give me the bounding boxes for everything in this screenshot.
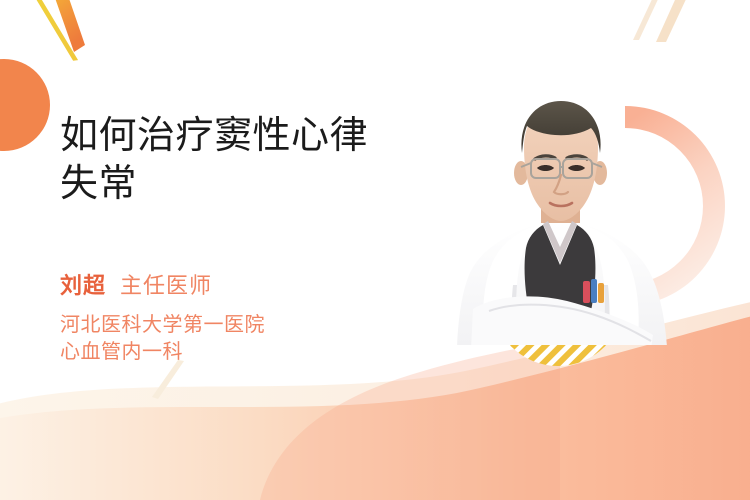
doctor-portrait: [455, 95, 670, 345]
affiliation: 河北医科大学第一医院 心血管内一科: [60, 312, 460, 366]
page-title: 如何治疗窦性心律 失常: [60, 112, 410, 208]
doctor-name: 刘超: [60, 273, 106, 298]
top-left-stripes: [26, 0, 85, 65]
orange-circle-decor: [0, 59, 50, 151]
top-right-stripes: [633, 0, 695, 42]
doctor-rank: 主任医师: [120, 273, 212, 298]
text-block: 如何治疗窦性心律 失常 刘超主任医师 河北医科大学第一医院 心血管内一科: [60, 112, 460, 366]
byline: 刘超主任医师: [60, 268, 460, 300]
video-cover-card: 如何治疗窦性心律 失常 刘超主任医师 河北医科大学第一医院 心血管内一科: [0, 0, 750, 500]
